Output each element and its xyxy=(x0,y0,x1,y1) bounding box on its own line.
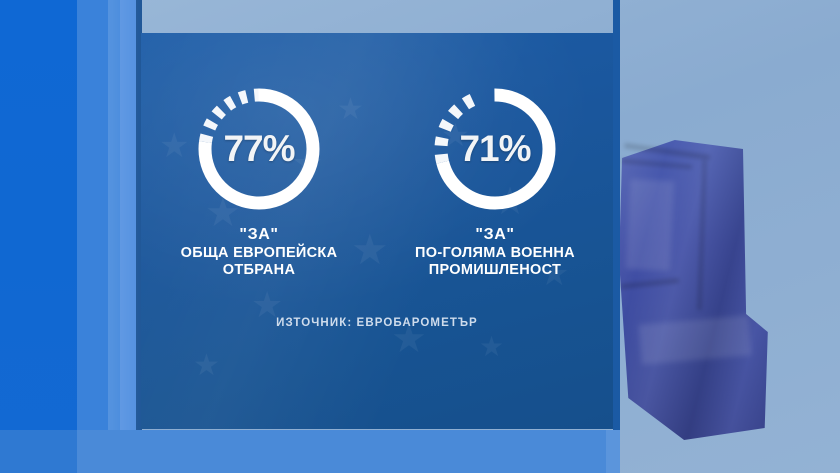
lower-strip xyxy=(77,430,617,473)
lower-strip-left xyxy=(0,430,77,473)
gauge-caption: "ЗА" ОБЩА ЕВРОПЕЙСКА ОТБРАНА xyxy=(181,226,338,279)
gauge-caption-line1: ОБЩА ЕВРОПЕЙСКА xyxy=(181,245,338,262)
gauge-caption-line2: ПРОМИШЛЕНОСТ xyxy=(415,262,575,279)
background-band-1 xyxy=(0,0,77,473)
source-note: ИЗТОЧНИК: ЕВРОБАРОМЕТЪР xyxy=(141,317,613,329)
infographic-stage: ★ ★ ★ ★ ★ ★ ★ ★ ★ ★ ★ ★ 77% xyxy=(0,0,840,473)
gauge-caption-line1: ПО-ГОЛЯМА ВОЕННА xyxy=(415,245,575,262)
gauge-caption-line2: ОТБРАНА xyxy=(181,262,338,279)
donut-chart: 71% xyxy=(431,85,559,213)
lower-strip-edge xyxy=(606,430,620,473)
statistics-card: ★ ★ ★ ★ ★ ★ ★ ★ ★ ★ ★ ★ 77% xyxy=(141,33,613,429)
gauge-percent-value: 77% xyxy=(195,85,323,213)
gauge-support-word: "ЗА" xyxy=(181,226,338,245)
eu-star-icon: ★ xyxy=(479,333,504,361)
donut-chart: 77% xyxy=(195,85,323,213)
flag-highlight xyxy=(626,179,675,271)
gauge-caption: "ЗА" ПО-ГОЛЯМА ВОЕННА ПРОМИШЛЕНОСТ xyxy=(415,226,575,279)
background-band-sheen xyxy=(108,0,142,473)
panel-right-edge-band xyxy=(613,0,620,473)
gauge-military-industry: 71% "ЗА" ПО-ГОЛЯМА ВОЕННА ПРОМИШЛЕНОСТ xyxy=(390,85,600,279)
eu-star-icon: ★ xyxy=(193,351,220,381)
gauge-percent-value: 71% xyxy=(431,85,559,213)
gauge-group: 77% "ЗА" ОБЩА ЕВРОПЕЙСКА ОТБРАНА xyxy=(141,85,613,279)
gauge-support-word: "ЗА" xyxy=(415,226,575,245)
gauge-common-defence: 77% "ЗА" ОБЩА ЕВРОПЕЙСКА ОТБРАНА xyxy=(154,85,364,279)
